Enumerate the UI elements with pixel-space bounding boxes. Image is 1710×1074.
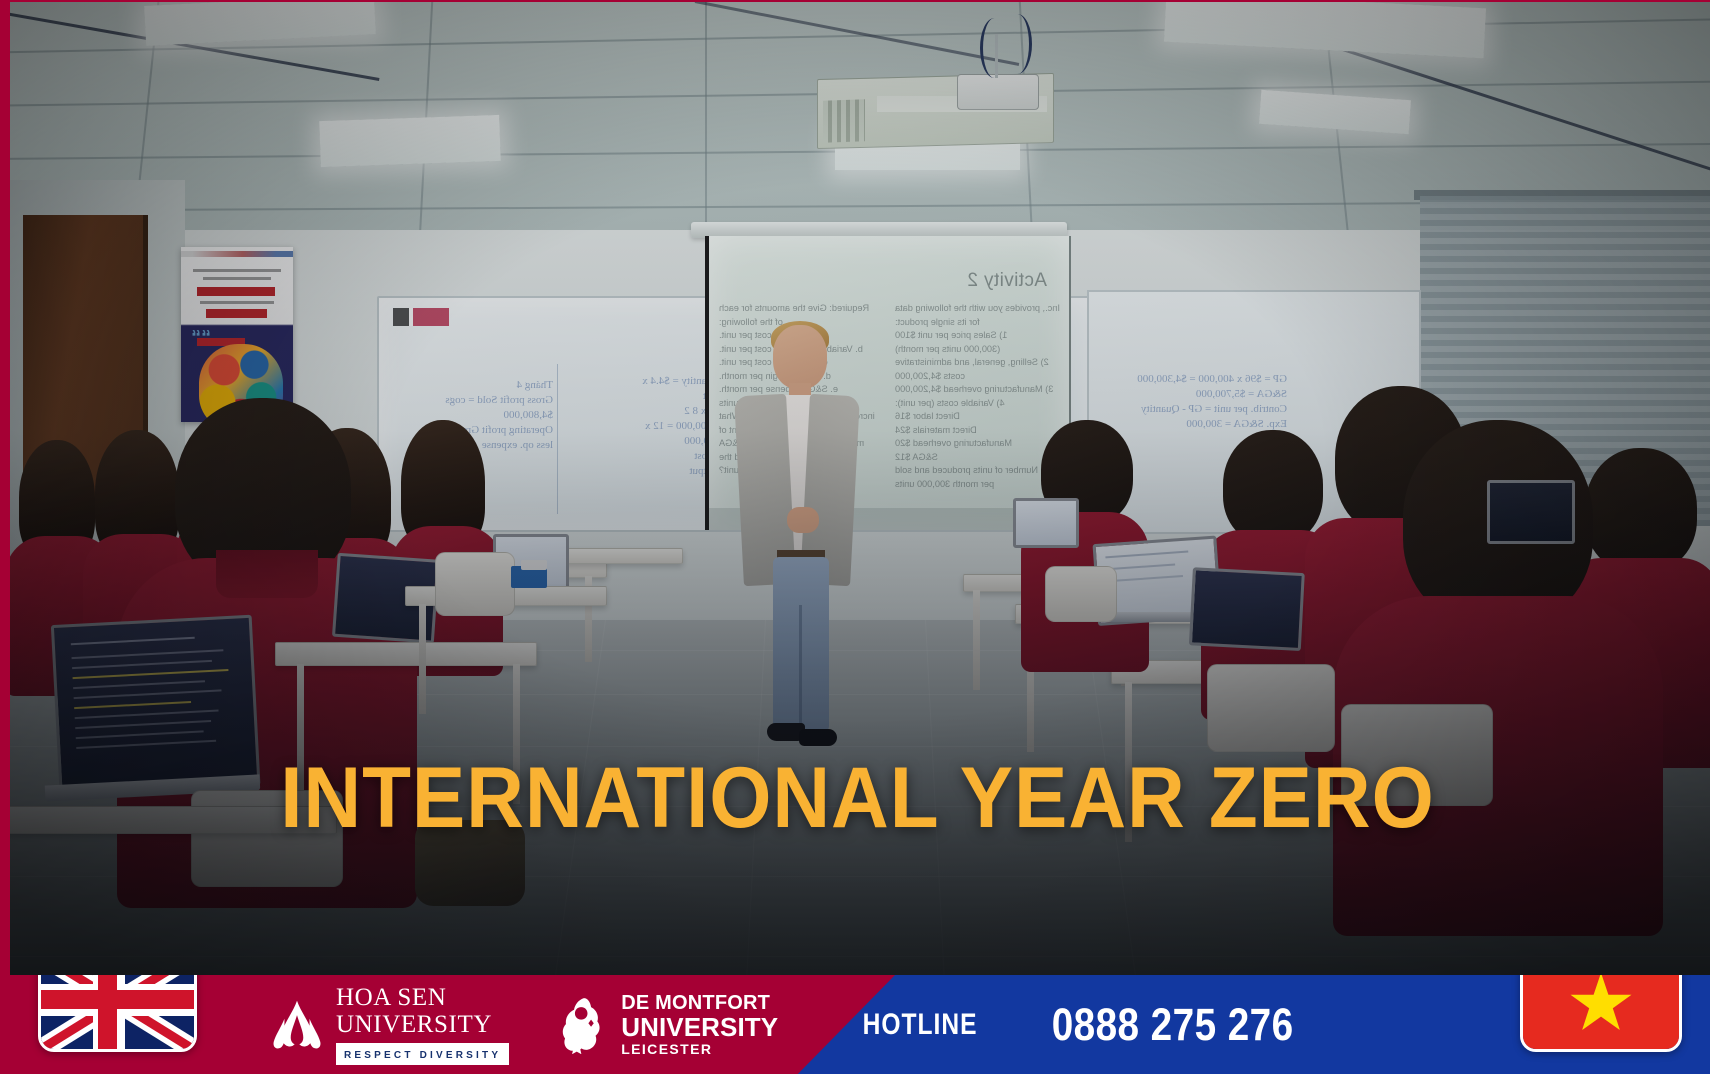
lion-rampant-icon [557,996,609,1054]
instructor-shoe-right [799,729,837,746]
top-edge-accent [5,0,1710,2]
left-edge-accent [5,0,10,1074]
desk [275,642,537,666]
hotline-block: HOTLINE 0888 275 276 [850,975,1313,1074]
hotline-number[interactable]: 0888 275 276 [1052,999,1294,1051]
hsu-tagline: RESPECT DIVERSITY [344,1050,501,1061]
whiteboard-logo [393,308,449,326]
instructor-head [773,325,827,389]
hoa-sen-university-logo: HOA SEN UNIVERSITY RESPECT DIVERSITY [270,985,509,1065]
bottom-banner: HOA SEN UNIVERSITY RESPECT DIVERSITY [5,975,1710,1074]
dmu-line2: UNIVERSITY [621,1014,778,1040]
hotline-label: HOTLINE [863,1008,978,1042]
hsu-line2: UNIVERSITY [336,1012,509,1037]
dmu-line3: LEICESTER [621,1042,778,1056]
chair [1045,566,1117,622]
laptop [1189,567,1299,644]
projector [957,74,1039,110]
hsu-tagline-bar: RESPECT DIVERSITY [336,1043,509,1065]
laptop [1013,498,1073,542]
partner-logos: HOA SEN UNIVERSITY RESPECT DIVERSITY [270,975,778,1074]
de-montfort-university-logo: DE MONTFORT UNIVERSITY LEICESTER [557,993,778,1056]
instructor [731,325,861,745]
dmu-line1: DE MONTFORT [621,993,778,1013]
vietnam-flag-icon [1520,975,1682,1052]
uk-flag-icon [38,975,197,1052]
chair [1207,664,1335,752]
wall-poster: ““ [181,247,293,422]
chair [435,552,515,616]
desk [561,548,683,564]
page-title: INTERNATIONAL YEAR ZERO [65,752,1651,844]
laptop [1487,480,1569,538]
promotional-poster: ““ Tháng 4 Gross profit Sold = cogs $4,8… [0,0,1710,1074]
instructor-hands [787,507,819,533]
lotus-flame-icon [270,999,324,1051]
hsu-line1: HOA SEN [336,985,509,1010]
classroom-photo: ““ Tháng 4 Gross profit Sold = cogs $4,8… [5,0,1710,1074]
slide-title: Activity 2 [967,270,1047,292]
